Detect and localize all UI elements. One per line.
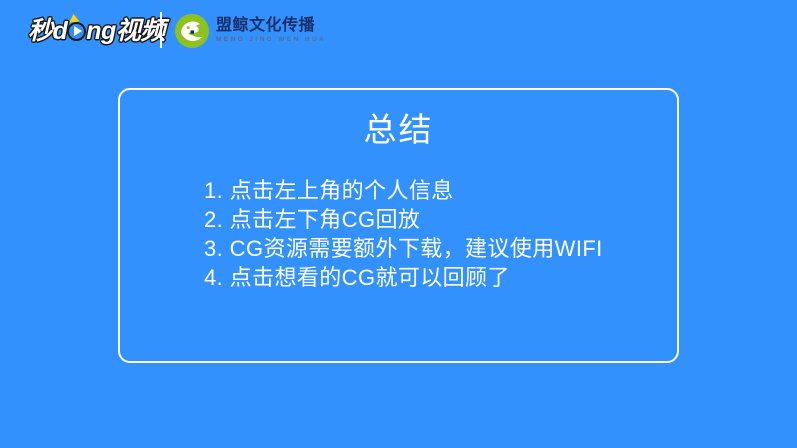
list-item: 4. 点击想看的CG就可以回顾了 (204, 263, 657, 292)
list-item: 1. 点击左上角的个人信息 (204, 176, 657, 205)
mengjing-wordmark: 盟鲸文化传播 MENG JING WEN HUA (216, 17, 326, 45)
miaodong-logo-text-before: 秒d (28, 14, 67, 48)
mengjing-name-en: MENG JING WEN HUA (216, 35, 326, 45)
brand-divider (160, 12, 162, 48)
summary-list: 1. 点击左上角的个人信息 2. 点击左下角CG回放 3. CG资源需要额外下载… (204, 176, 657, 292)
list-item: 2. 点击左下角CG回放 (204, 205, 657, 234)
miaodong-logo-text-after: ng视频 (86, 14, 165, 48)
list-item: 3. CG资源需要额外下载，建议使用WIFI (204, 234, 657, 263)
whale-logo-icon (174, 13, 210, 49)
slide-canvas: 秒d ng视频 盟鲸文化传播 MENG JING W (0, 0, 797, 448)
page-title: 总结 (120, 110, 677, 150)
summary-panel: 总结 1. 点击左上角的个人信息 2. 点击左下角CG回放 3. CG资源需要额… (118, 88, 679, 363)
play-circle-icon (67, 22, 86, 41)
crown-icon (69, 13, 80, 22)
miaodong-logo: 秒d ng视频 (28, 14, 165, 48)
mengjing-logo: 盟鲸文化传播 MENG JING WEN HUA (174, 12, 326, 50)
play-triangle-icon (74, 26, 82, 36)
brand-header: 秒d ng视频 盟鲸文化传播 MENG JING W (0, 0, 797, 62)
mengjing-name-cn: 盟鲸文化传播 (216, 17, 326, 35)
